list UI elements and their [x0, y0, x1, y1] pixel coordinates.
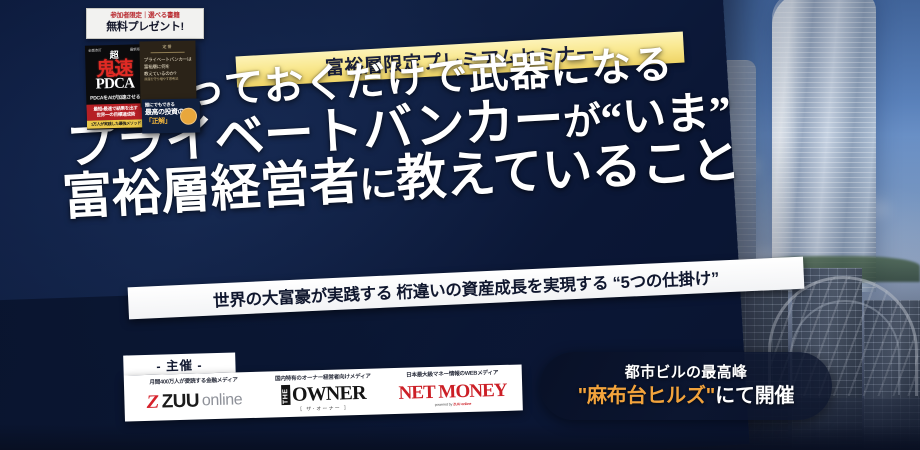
- netmoney-wordmark: NET MONEY: [398, 381, 507, 403]
- gift-ribbon: 参加者限定｜選べる書籍 無料プレゼント!: [86, 8, 204, 39]
- book-b-note: 資産を守り増やす思考法: [144, 77, 192, 83]
- venue-badge: 都市ビルの最高峰 "麻布台ヒルズ"にて開催: [540, 352, 832, 420]
- venue-quote-close: ": [706, 385, 715, 407]
- the-owner-logo: THE OWNER ［ ザ･オーナー ］: [261, 385, 385, 410]
- zuu-logo-group: Z ZUU online: [146, 391, 243, 413]
- netmoney-ruby-brand: ZUU online: [453, 402, 471, 407]
- book-b-cap: 定番: [139, 44, 195, 51]
- zuu-z-mark-icon: Z: [145, 393, 160, 412]
- book-a-title-white: PDCA: [86, 77, 144, 93]
- book-a-subtitle: PDCAをAIが加速させる: [86, 93, 144, 102]
- headline-line-3-b: に: [358, 163, 398, 207]
- book-a-top-left-label: 全面改訂: [88, 48, 102, 53]
- owner-logo-group: THE OWNER ［ ザ･オーナー ］: [281, 383, 367, 413]
- sponsor-item-net-money: 日本最大級マネー情報のWEBメディア NET MONEY powered by …: [390, 370, 514, 407]
- gift-eyebrow-text: 参加者限定｜選べる書籍: [91, 12, 199, 20]
- headline-line-2-particle: が: [562, 100, 602, 144]
- zuu-online-suffix: online: [202, 392, 243, 409]
- free-gift-badge: 参加者限定｜選べる書籍 無料プレゼント! 全面改訂 最新版 超 鬼速 PDCA …: [86, 8, 204, 133]
- zuu-wordmark: ZUU: [161, 392, 199, 412]
- sponsor-item-the-owner: 国内特有のオーナー経営者向けメディア THE OWNER ［ ザ･オーナー ］: [261, 373, 385, 410]
- seminar-banner: 参加者限定｜選べる書籍 無料プレゼント! 全面改訂 最新版 超 鬼速 PDCA …: [0, 0, 920, 450]
- sponsor-item-zuu-online: 月間400万人が愛読する金融メディア Z ZUU online: [132, 377, 256, 414]
- venue-name-line: "麻布台ヒルズ"にて開催: [578, 384, 795, 409]
- book-cover-toushi-no-seikai: 誰にでもできる 最高の投資の 「正解」: [142, 99, 201, 134]
- owner-logo-row: THE OWNER: [281, 383, 366, 405]
- gift-headline-text: 無料プレゼント!: [91, 21, 199, 34]
- zuu-online-logo: Z ZUU online: [132, 389, 256, 414]
- venue-tagline: 都市ビルの最高峰: [625, 364, 747, 382]
- net-money-logo: NET MONEY powered by ZUU online: [391, 381, 515, 406]
- book-c-title-part-a: 最高の: [145, 109, 165, 116]
- sponsor-section: - 主催 - 月間400万人が愛読する金融メディア Z ZUU online 国…: [123, 344, 523, 421]
- venue-quote-open: ": [578, 385, 587, 407]
- book-a-footer: 1万人が実践した最強メソッド: [87, 119, 145, 129]
- netmoney-logo-group: NET MONEY powered by ZUU online: [398, 381, 507, 408]
- owner-wordmark: OWNER: [292, 383, 366, 405]
- book-a-band-line2: 世界一の目標達成術: [89, 111, 143, 118]
- venue-name: 麻布台ヒルズ: [587, 385, 706, 407]
- netmoney-ruby-prefix: powered by: [435, 402, 454, 407]
- venue-suffix: にて開催: [715, 385, 794, 407]
- book-cover-group: 全面改訂 最新版 超 鬼速 PDCA PDCAをAIが加速させる 最短・最速で結…: [86, 41, 204, 133]
- book-b-title-block: プライベートバンカーは 富裕層に何を 教えているのか? 資産を守り増やす思考法: [140, 56, 196, 84]
- book-b-divider: [150, 52, 185, 54]
- book-c-title-highlight: 「正解」: [145, 118, 171, 125]
- owner-the-badge: THE: [281, 385, 291, 405]
- sponsor-caption: 月間400万人が愛読する金融メディア: [132, 377, 255, 388]
- book-a-top-right-label: 最新版: [130, 47, 140, 52]
- book-cover-oni-soku-pdca: 全面改訂 最新版 超 鬼速 PDCA PDCAをAIが加速させる 最短・最速で結…: [85, 45, 145, 130]
